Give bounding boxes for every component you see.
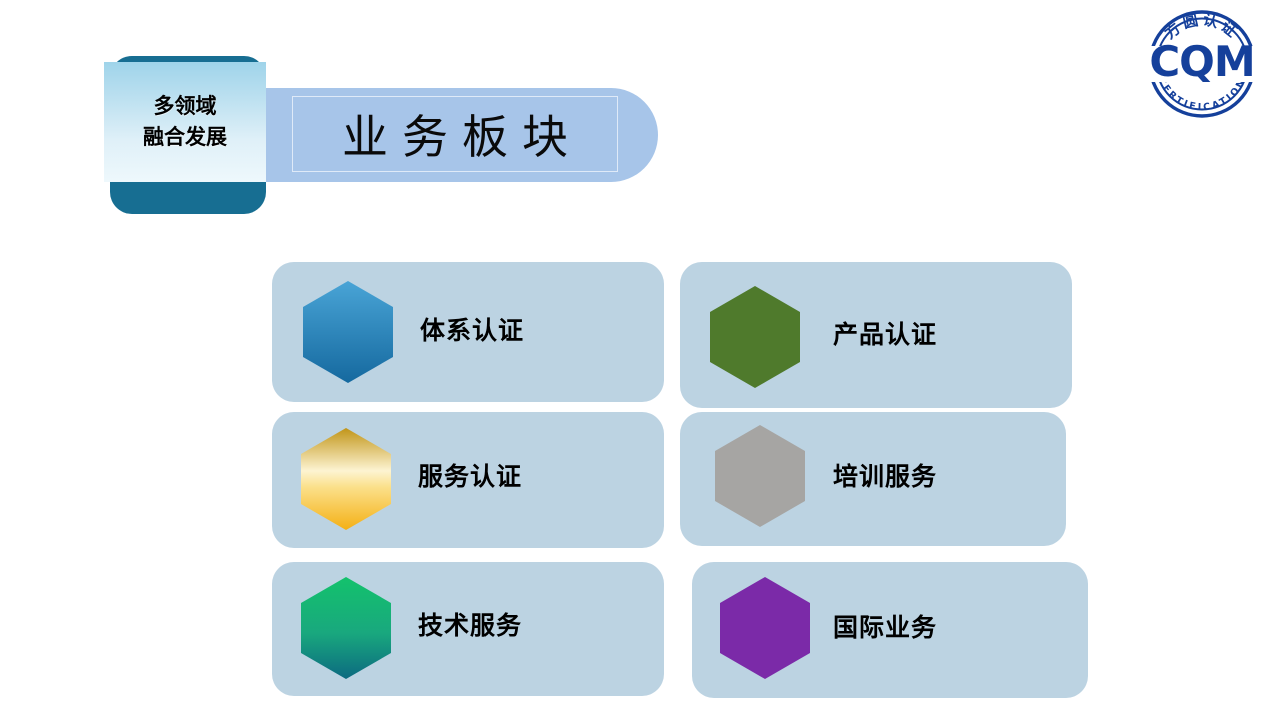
card-label-technical-service: 技术服务 (418, 613, 522, 638)
badge-multifield-development: 多领域 融合发展 (104, 62, 266, 182)
svg-text:CQM: CQM (1149, 37, 1254, 86)
page-title: 业务板块 (292, 96, 618, 172)
card-label-system-certification: 体系认证 (420, 318, 524, 343)
hexagon-icon-service-certification (300, 427, 392, 531)
card-label-service-certification: 服务认证 (418, 464, 522, 489)
hexagon-icon-system-certification (302, 280, 394, 384)
card-label-training-service: 培训服务 (833, 464, 937, 489)
card-label-international-business: 国际业务 (833, 615, 937, 640)
badge-line-2: 融合发展 (143, 127, 227, 148)
cqm-certification-logo: 方圆认证 CERTIFICATION CQM (1138, 2, 1266, 124)
hexagon-icon-technical-service (300, 576, 392, 680)
card-label-product-certification: 产品认证 (833, 322, 937, 347)
slide-header: 业务板块 多领域 融合发展 方圆认证 CERTIFICATION (0, 0, 1280, 240)
badge-line-1: 多领域 (154, 96, 217, 117)
hexagon-icon-international-business (719, 576, 811, 680)
hexagon-icon-training-service (714, 424, 806, 528)
hexagon-icon-product-certification (709, 285, 801, 389)
